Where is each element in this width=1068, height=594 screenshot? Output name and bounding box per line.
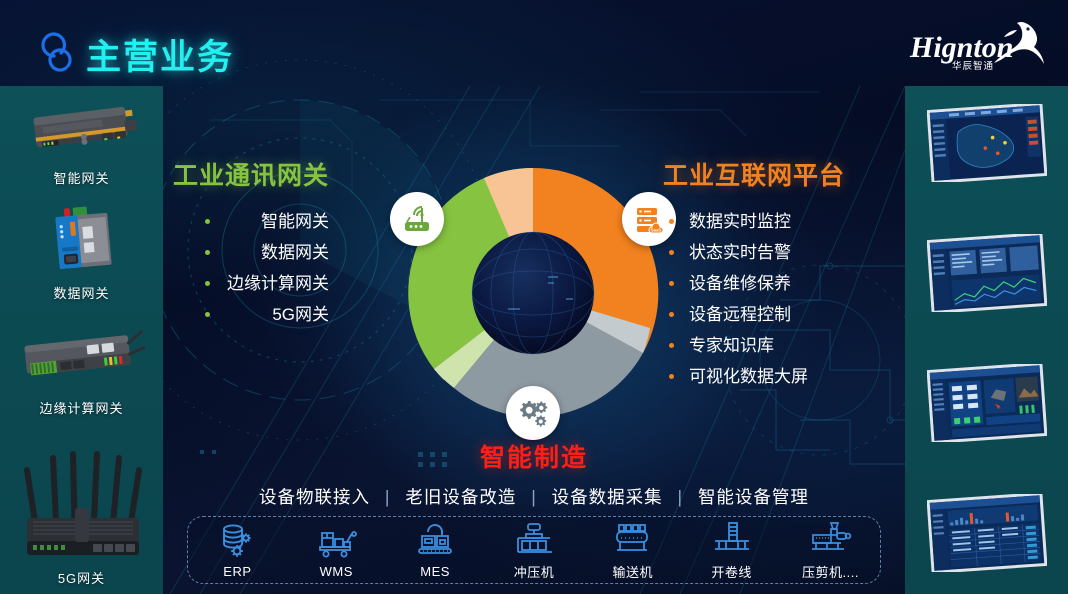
bullet-dot-icon (669, 312, 674, 317)
list-item[interactable]: 状态实时告警 (663, 237, 845, 268)
svg-text:华辰智通: 华辰智通 (952, 60, 994, 72)
icon-label: ERP (191, 564, 283, 579)
list-item-label: 5G网关 (272, 305, 329, 324)
separator: | (678, 487, 684, 507)
data-gateway-device-icon (21, 191, 143, 279)
warehouse-cart-icon (290, 521, 382, 561)
uncoiling-line-icon (686, 519, 778, 559)
brand-logo: Hignton 华辰智通 (904, 14, 1052, 76)
list-item[interactable]: 数据实时监控 (663, 206, 845, 237)
capability-item[interactable]: 老旧设备改造 (405, 487, 516, 507)
shearing-machine-icon (784, 519, 876, 559)
product-item-5g-gateway[interactable]: 5G网关 (0, 436, 163, 587)
database-gear-icon (191, 521, 283, 561)
list-item-label: 状态实时告警 (689, 243, 791, 262)
wifi-gateway-badge-icon (401, 203, 433, 235)
gears-badge[interactable] (506, 386, 560, 440)
list-item-label: 数据网关 (261, 243, 329, 262)
page-title: 主营业务 (86, 29, 234, 80)
icon-cell-conveyor[interactable]: 输送机 (587, 519, 679, 581)
stamping-machine-icon (488, 519, 580, 559)
bullet-dot-icon (205, 250, 210, 255)
list-item-label: 设备维修保养 (689, 274, 791, 293)
list-item-label: 可视化数据大屏 (689, 367, 808, 386)
bullet-dot-icon (669, 250, 674, 255)
bullet-dot-icon (669, 374, 674, 379)
map-dashboard-thumbnail[interactable] (927, 104, 1047, 182)
bullet-dot-icon (669, 343, 674, 348)
product-label: 5G网关 (0, 568, 163, 587)
product-item-edge-gateway[interactable]: 边缘计算网关 (0, 326, 163, 417)
bullet-dot-icon (205, 312, 210, 317)
right-column: 工业互联网平台 数据实时监控 状态实时告警 设备维修保养 设备远程控制 (663, 156, 845, 392)
right-column-list: 数据实时监控 状态实时告警 设备维修保养 设备远程控制 专家知识库 (663, 206, 845, 392)
bullet-dot-icon (669, 281, 674, 286)
slide-root: 主营业务 Hignton 华辰智通 (0, 0, 1068, 594)
center-title: 智能制造 (163, 438, 905, 474)
product-label: 边缘计算网关 (0, 398, 163, 417)
business-donut-chart: SaaS (398, 158, 668, 428)
capability-item[interactable]: 智能设备管理 (698, 487, 809, 507)
icon-cell-stamping[interactable]: 冲压机 (488, 519, 580, 581)
list-item-label: 边缘计算网关 (227, 274, 329, 293)
icon-cell-erp[interactable]: ERP (191, 521, 283, 579)
system-icon-strip: ERP WMS (187, 516, 881, 584)
conveyor-machine-icon (587, 519, 679, 559)
icon-label: 开卷线 (686, 562, 778, 581)
list-item[interactable]: 可视化数据大屏 (663, 361, 845, 392)
capability-item[interactable]: 设备数据采集 (552, 487, 663, 507)
main-stage: 工业通讯网关 智能网关 数据网关 边缘计算网关 5G网关 (163, 86, 905, 594)
device-detail-dashboard-thumbnail[interactable] (927, 364, 1047, 442)
list-item[interactable]: 设备远程控制 (663, 299, 845, 330)
icon-label: MES (389, 564, 481, 579)
right-screenshot-panel (905, 86, 1068, 594)
icon-cell-mes[interactable]: MES (389, 521, 481, 579)
separator: | (385, 487, 391, 507)
cloud-saas-server-badge-icon: SaaS (633, 203, 665, 235)
list-item[interactable]: 专家知识库 (663, 330, 845, 361)
product-item-smart-gateway[interactable]: 智能网关 (0, 96, 163, 187)
product-label: 智能网关 (0, 168, 163, 187)
right-column-heading: 工业互联网平台 (663, 156, 845, 192)
list-item-label: 设备远程控制 (689, 305, 791, 324)
icon-label: 冲压机 (488, 562, 580, 581)
separator: | (531, 487, 537, 507)
icon-label: 压剪机.... (784, 562, 876, 581)
svg-text:SaaS: SaaS (651, 228, 662, 233)
icon-cell-wms[interactable]: WMS (290, 521, 382, 579)
capability-item[interactable]: 设备物联接入 (259, 487, 370, 507)
product-item-data-gateway[interactable]: 数据网关 (0, 191, 163, 302)
list-item-label: 数据实时监控 (689, 212, 791, 231)
bullet-dot-icon (205, 281, 210, 286)
capability-row: 设备物联接入 | 老旧设备改造 | 设备数据采集 | 智能设备管理 (163, 484, 905, 509)
bullet-dot-icon (669, 219, 674, 224)
monitoring-dashboard-thumbnail[interactable] (927, 234, 1047, 312)
bullet-dot-icon (205, 219, 210, 224)
list-item[interactable]: 数据网关 (227, 237, 329, 268)
wifi-gateway-badge[interactable] (390, 192, 444, 246)
left-product-panel: 智能网关 (0, 86, 163, 594)
list-item-label: 智能网关 (261, 212, 329, 231)
svg-text:Hignton: Hignton (909, 31, 1013, 64)
left-column-list: 智能网关 数据网关 边缘计算网关 5G网关 (227, 206, 329, 330)
icon-cell-uncoiling[interactable]: 开卷线 (686, 519, 778, 581)
list-item-label: 专家知识库 (689, 336, 774, 355)
smart-gateway-device-icon (21, 96, 143, 164)
icon-label: WMS (290, 564, 382, 579)
gears-manufacturing-badge-icon (517, 398, 549, 428)
icon-cell-shearing[interactable]: 压剪机.... (784, 519, 876, 581)
list-item[interactable]: 5G网关 (227, 299, 329, 330)
data-table-dashboard-thumbnail[interactable] (927, 494, 1047, 572)
double-circle-logo-icon (30, 28, 80, 76)
header-bar: 主营业务 Hignton 华辰智通 (0, 0, 1068, 86)
list-item[interactable]: 智能网关 (227, 206, 329, 237)
left-column-heading: 工业通讯网关 (173, 156, 329, 192)
left-column: 工业通讯网关 智能网关 数据网关 边缘计算网关 5G网关 (173, 156, 329, 330)
product-label: 数据网关 (0, 283, 163, 302)
edge-computing-gateway-device-icon (12, 326, 152, 394)
list-item[interactable]: 设备维修保养 (663, 268, 845, 299)
5g-router-device-icon (7, 436, 157, 564)
production-line-icon (389, 521, 481, 561)
list-item[interactable]: 边缘计算网关 (227, 268, 329, 299)
icon-label: 输送机 (587, 562, 679, 581)
